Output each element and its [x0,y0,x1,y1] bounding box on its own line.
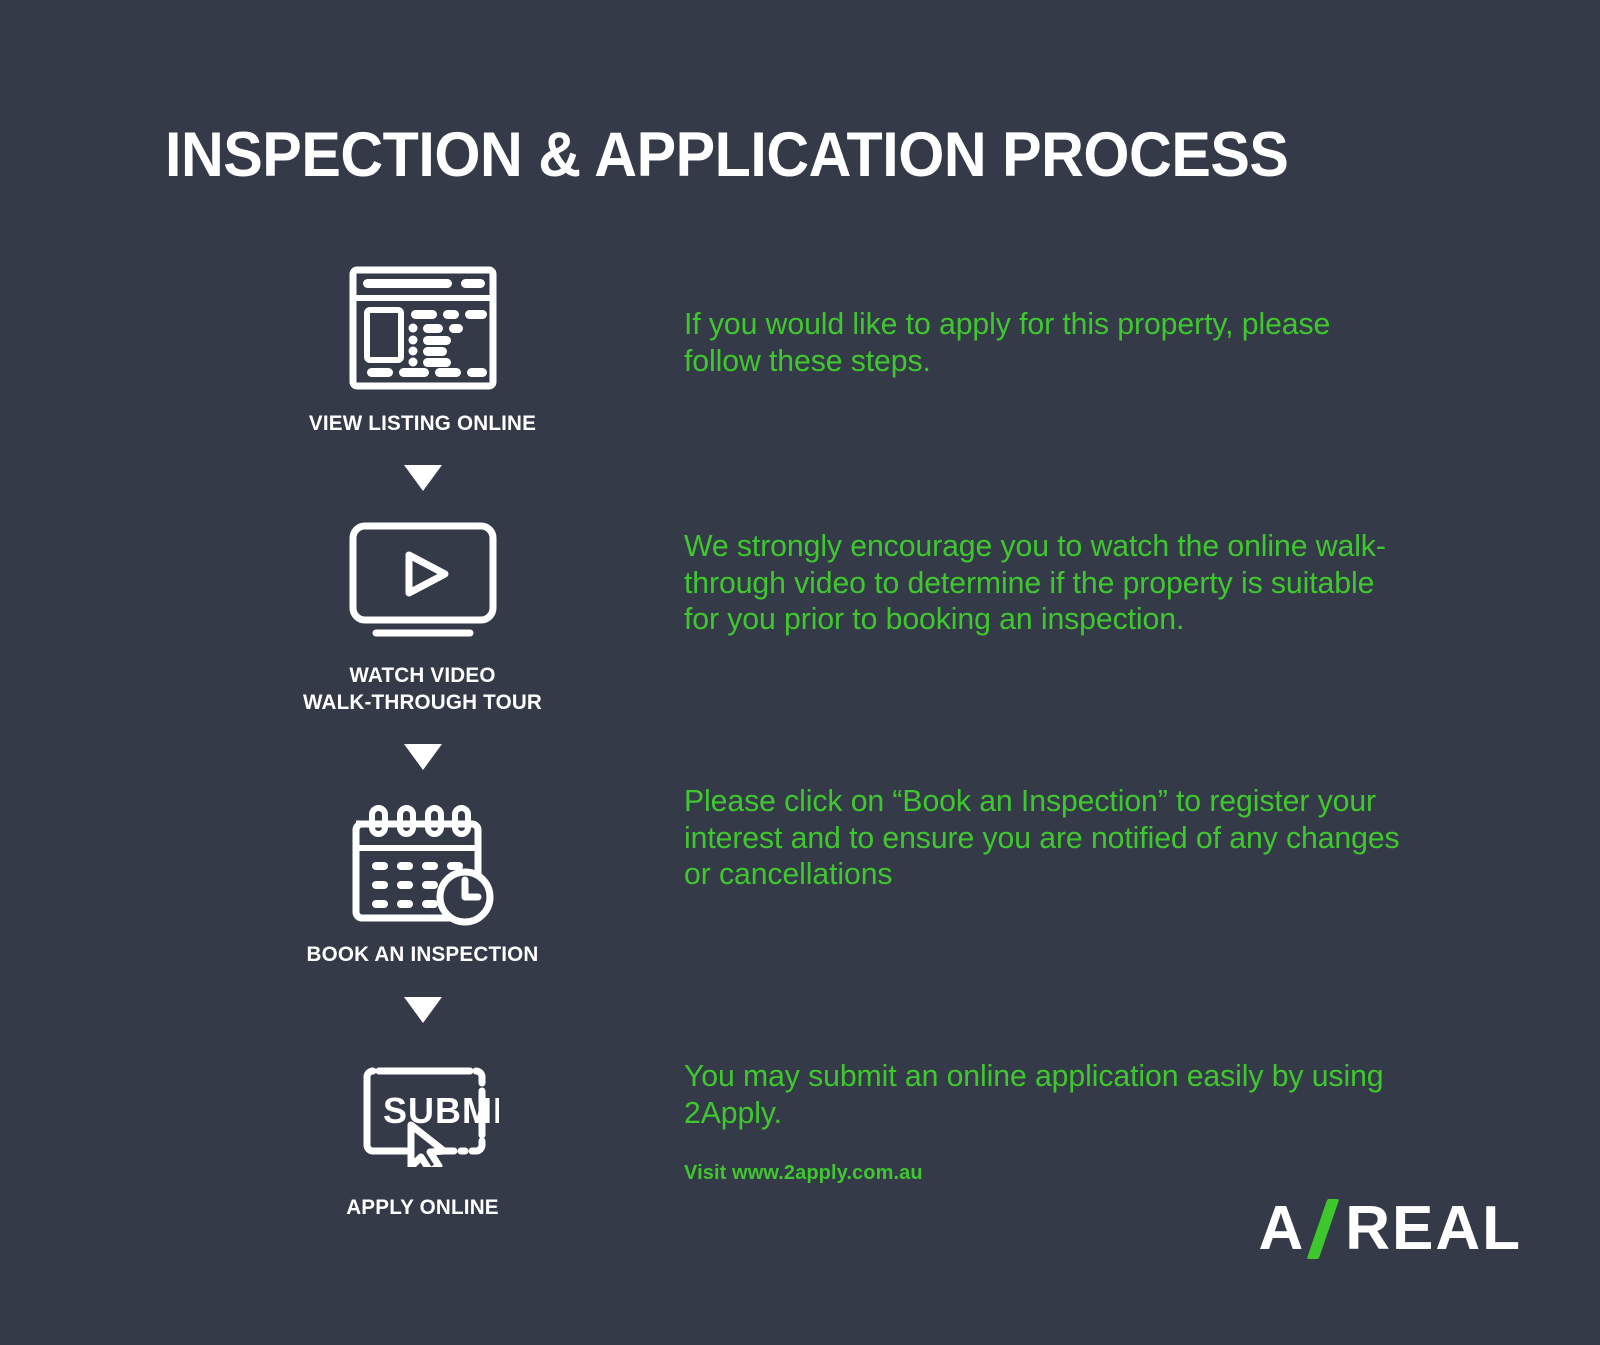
visit-website-link[interactable]: Visit www.2apply.com.au [684,1162,923,1185]
video-play-screen-icon [280,514,565,646]
step-watch-video-walkthrough: WATCH VIDEO WALK-THROUGH TOUR [280,514,565,715]
calendar-clock-icon [280,793,565,925]
paragraph-apply: You may submit an online application eas… [684,1058,1406,1131]
step-label: BOOK AN INSPECTION [286,941,560,967]
step-book-an-inspection: BOOK AN INSPECTION [280,793,565,967]
paragraph-inspection: Please click on “Book an Inspection” to … [684,783,1406,893]
step-view-listing-online: VIEW LISTING ONLINE [280,262,565,436]
listing-window-icon [280,262,565,394]
infographic-poster: INSPECTION & APPLICATION PROCESS [0,0,1600,1345]
step-apply-online: SUBMIT APPLY ONLINE [280,1046,565,1220]
step-label: APPLY ONLINE [286,1194,560,1220]
logo-letter-a: A [1258,1198,1305,1260]
logo-word-real: REAL [1345,1198,1522,1260]
step-label: VIEW LISTING ONLINE [286,410,560,436]
process-steps-column: VIEW LISTING ONLINE WATCH VIDEO WALK-THR… [280,262,565,1220]
svg-text:SUBMIT: SUBMIT [383,1090,499,1131]
paragraph-intro: If you would like to apply for this prop… [684,306,1406,379]
brand-logo: A REAL [1258,1198,1522,1260]
logo-slash-icon [1307,1199,1340,1259]
flow-arrow-3 [280,997,565,1023]
flow-arrow-2 [280,744,565,770]
page-title: INSPECTION & APPLICATION PROCESS [165,122,1359,188]
flow-arrow-1 [280,465,565,491]
step-label: WATCH VIDEO WALK-THROUGH TOUR [286,662,560,715]
paragraph-video: We strongly encourage you to watch the o… [684,528,1406,638]
submit-button-cursor-icon: SUBMIT [280,1046,565,1178]
